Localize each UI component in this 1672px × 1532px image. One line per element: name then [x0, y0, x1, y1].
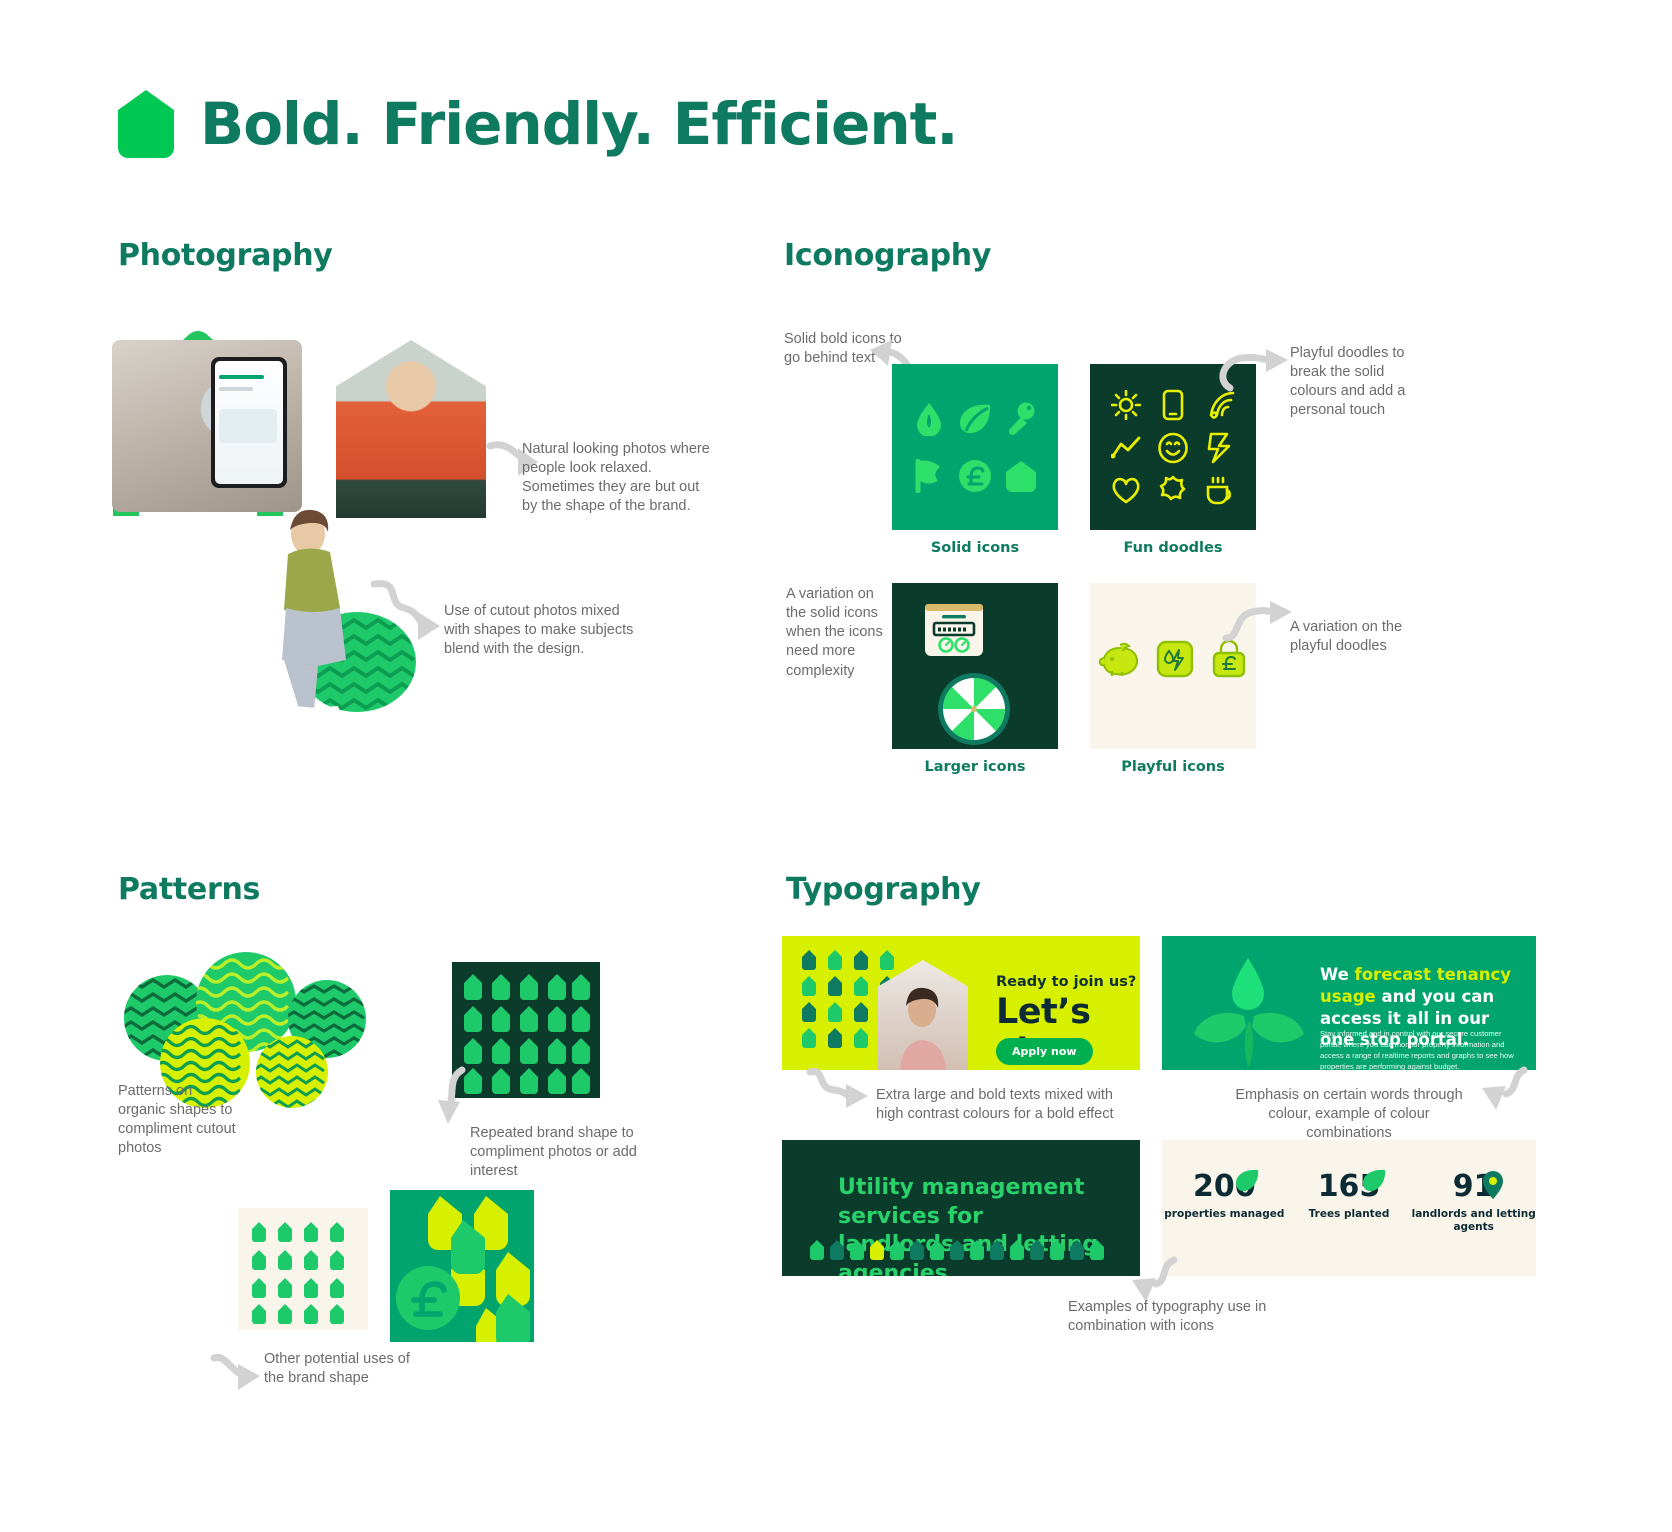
page-title: Bold. Friendly. Efficient. [200, 90, 957, 158]
arrow-to-other-uses-note [212, 1352, 268, 1396]
leaf-icon [1361, 1168, 1387, 1194]
wifi-icon [1205, 391, 1235, 419]
playful-icons-note: A variation on the playful doodles [1290, 618, 1420, 656]
section-title-photography: Photography [118, 238, 333, 273]
page-header: Bold. Friendly. Efficient. [118, 90, 957, 158]
larger-icons-panel: Larger icons [892, 583, 1058, 749]
stat-label: landlords and letting agents [1411, 1208, 1536, 1233]
stats-row: 200 properties managed 165 Trees planted… [1162, 1172, 1536, 1233]
lets-chat-card: Ready to join us? Let’s chat Apply now [782, 936, 1140, 1070]
water-drop-icon [914, 402, 944, 436]
pie-chart-icon [936, 671, 1012, 747]
utility-card: Utility management services for landlord… [782, 1140, 1140, 1276]
arrow-to-cutout-photos-note [368, 578, 450, 644]
lightning-bolt-icon [1207, 432, 1233, 464]
pound-coin-icon [958, 459, 992, 493]
fun-doodles-caption: Fun doodles [1090, 540, 1256, 556]
emphasis-note: Emphasis on certain words through colour… [1228, 1086, 1470, 1143]
playful-icons-caption: Playful icons [1090, 759, 1256, 775]
photo-phone-in-hand [112, 340, 302, 512]
coffee-cup-icon [1204, 475, 1236, 505]
piggy-bank-icon [1098, 642, 1140, 676]
mobile-phone-icon [1161, 389, 1185, 421]
solid-icons-grid [892, 364, 1058, 530]
bold-text-note: Extra large and bold texts mixed with hi… [876, 1086, 1116, 1124]
leaf-icon [958, 403, 992, 435]
house-logo-icon [118, 90, 174, 158]
solid-icons-panel: Solid icons [892, 364, 1058, 530]
forecast-card: We forecast tenancy usage and you can ac… [1162, 936, 1536, 1070]
section-title-typography: Typography [786, 872, 980, 907]
lets-chat-kicker: Ready to join us? [996, 974, 1136, 990]
other-uses-note: Other potential uses of the brand shape [264, 1350, 434, 1388]
playful-doodles-note: Playful doodles to break the solid colou… [1290, 344, 1425, 421]
pattern-circle-lime-5 [256, 1036, 328, 1108]
stat-label: properties managed [1162, 1208, 1287, 1221]
leaf-icon [1234, 1168, 1260, 1194]
leaf-drop-decoration [1188, 956, 1308, 1068]
location-pin-icon [1481, 1170, 1505, 1200]
icons-combination-note: Examples of typography use in combinatio… [1068, 1298, 1278, 1336]
stat-item: 165 Trees planted [1287, 1172, 1412, 1233]
stat-number: 165 [1287, 1172, 1412, 1202]
stat-item: 200 properties managed [1162, 1172, 1287, 1233]
photo-woman-with-phone [336, 340, 486, 518]
organic-shapes-note: Patterns on organic shapes to compliment… [118, 1082, 238, 1159]
house-icon [1005, 459, 1037, 493]
stats-card: 200 properties managed 165 Trees planted… [1162, 1140, 1536, 1276]
pattern-pound-house-block [390, 1190, 534, 1342]
arrow-to-emphasis-note [1468, 1066, 1530, 1116]
cutout-photos-note: Use of cutout photos mixed with shapes t… [444, 602, 644, 659]
solid-icons-caption: Solid icons [892, 540, 1058, 556]
arrow-to-playful-icons-note [1216, 598, 1294, 644]
energy-tile-icon [1155, 639, 1195, 679]
photo-cutout-woman-seated [252, 508, 354, 730]
sun-icon [1111, 390, 1141, 420]
arrow-to-playful-doodles-note [1214, 346, 1292, 394]
stat-label: Trees planted [1287, 1208, 1412, 1221]
repeated-shape-note: Repeated brand shape to compliment photo… [470, 1124, 650, 1181]
star-blob-icon [1158, 475, 1188, 505]
pattern-cream-house-block [238, 1208, 368, 1330]
larger-icons-caption: Larger icons [892, 759, 1058, 775]
flag-icon [914, 459, 944, 493]
pound-lock-icon [1210, 639, 1248, 679]
stat-item: 91 landlords and letting agents [1411, 1172, 1536, 1233]
smiley-face-icon [1157, 432, 1189, 464]
natural-photos-note: Natural looking photos where people look… [522, 440, 712, 517]
brand-guidelines-page: Bold. Friendly. Efficient. Photography I… [0, 0, 1672, 1532]
chart-line-icon [1111, 436, 1141, 460]
arrow-to-repeated-shape-note [432, 1068, 478, 1130]
section-title-iconography: Iconography [784, 238, 991, 273]
stat-number: 200 [1162, 1172, 1287, 1202]
stat-number: 91 [1411, 1172, 1536, 1202]
key-icon [1006, 402, 1036, 436]
house-row-decoration [810, 1234, 1112, 1264]
section-title-patterns: Patterns [118, 872, 260, 907]
arrow-to-bold-text-note [806, 1068, 878, 1112]
playful-icons-row [1090, 639, 1256, 679]
forecast-heading-pre: We [1320, 965, 1355, 984]
forecast-body-text: Stay informed and in control with our se… [1320, 1028, 1520, 1070]
heart-icon [1110, 476, 1142, 504]
smart-meter-icon [924, 603, 984, 657]
apply-now-button[interactable]: Apply now [996, 1038, 1093, 1065]
